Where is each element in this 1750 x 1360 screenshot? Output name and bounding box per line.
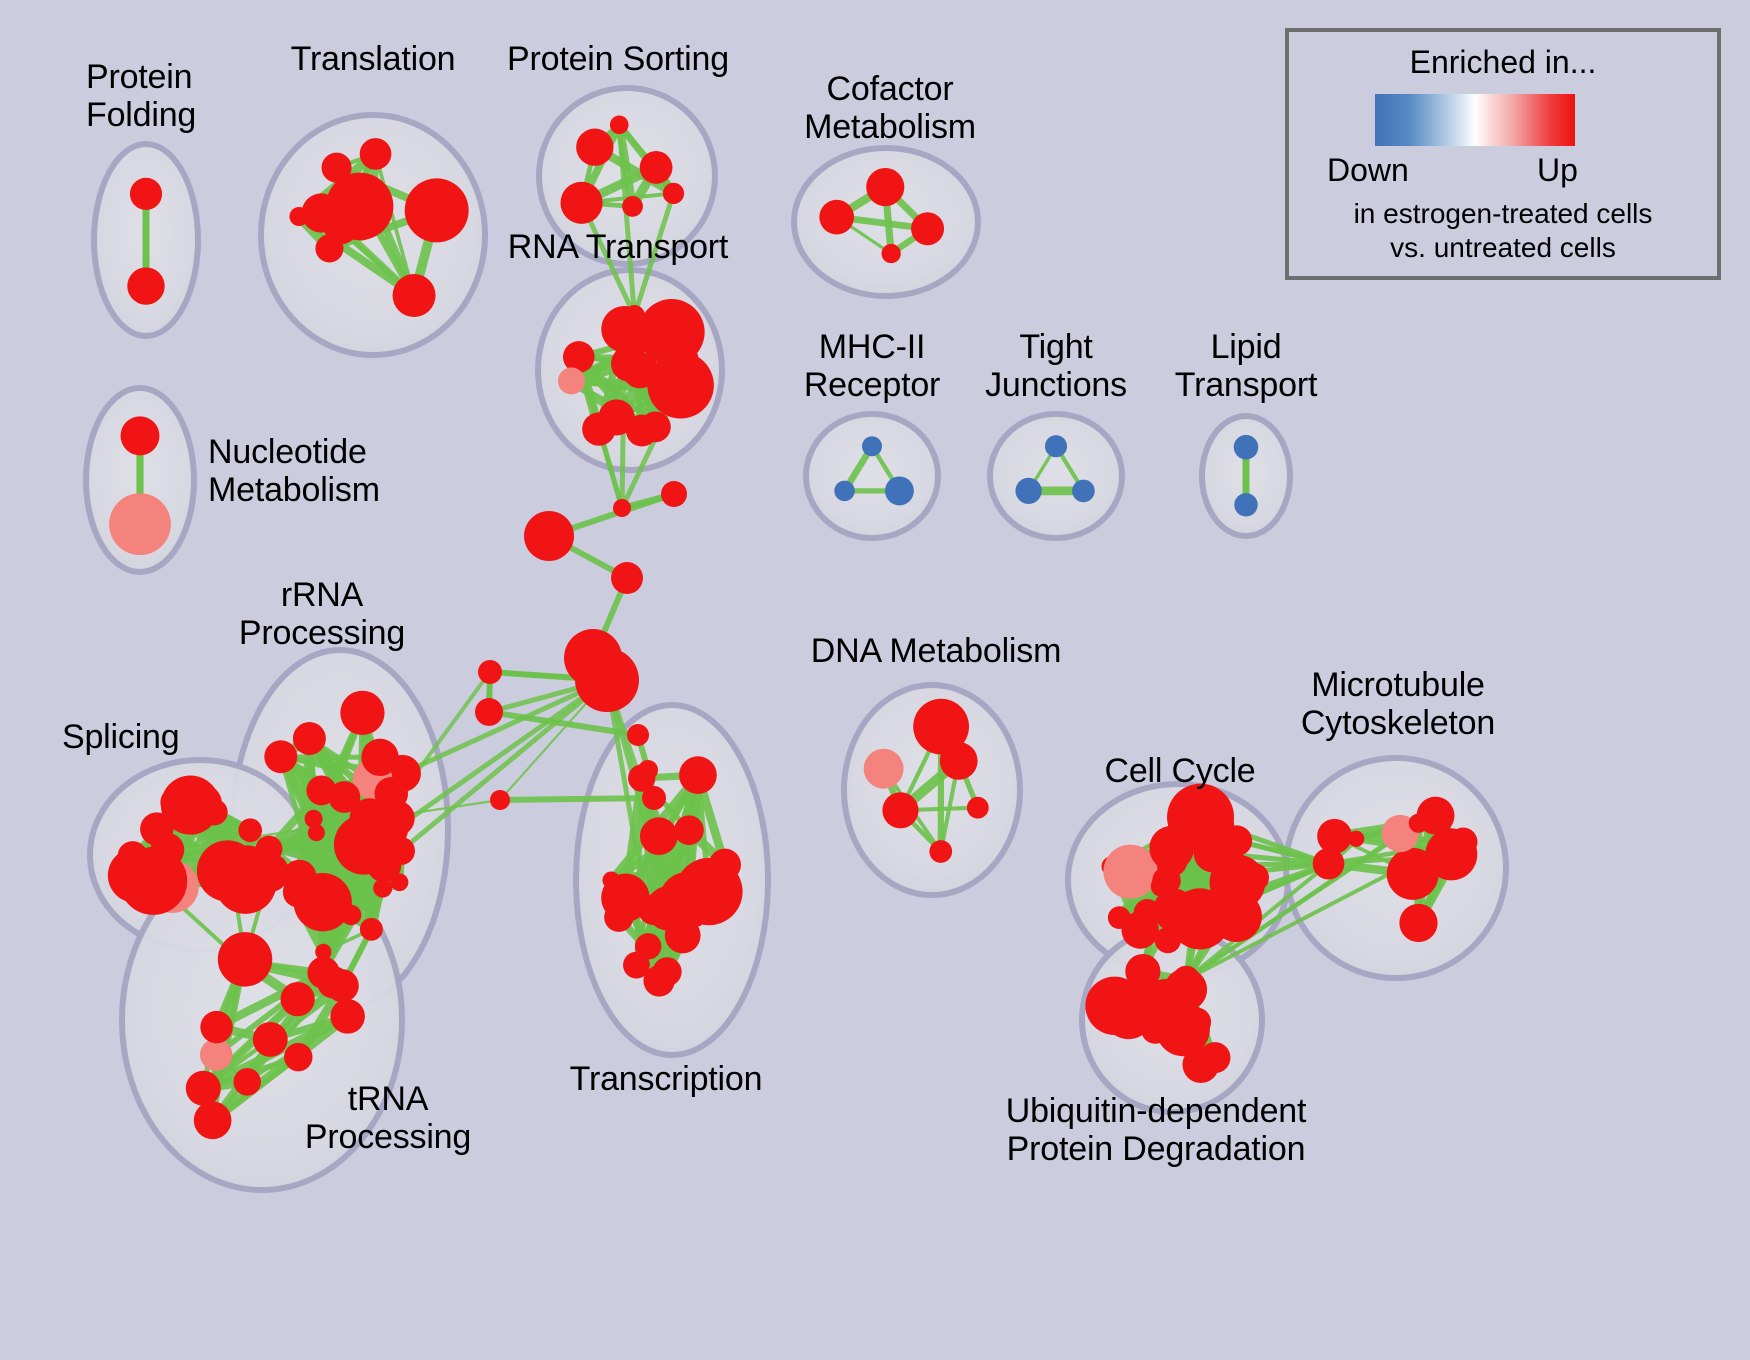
network-node-rrna-processing — [373, 879, 392, 898]
network-node-translation — [358, 184, 387, 213]
network-node-cofactor-metab — [866, 168, 904, 206]
network-node-dna-metabolism — [940, 742, 978, 780]
network-node-transcription — [602, 872, 619, 889]
network-node-trna-processing — [284, 1043, 312, 1071]
network-node-nucleotide-metab — [121, 416, 160, 455]
network-node-trna-processing — [253, 1022, 288, 1057]
network-node-rna-transport — [629, 341, 645, 357]
network-node-protein-sorting — [610, 116, 629, 135]
network-node-transcription — [674, 815, 704, 845]
legend-subtitle-line2: vs. untreated cells — [1289, 232, 1717, 264]
label-microtubule-cytoskeleton: Microtubule Cytoskeleton — [1301, 666, 1495, 742]
network-node-splicing — [140, 812, 173, 845]
network-edge — [500, 798, 654, 800]
network-node-bridge — [642, 786, 666, 810]
network-node-translation — [322, 153, 352, 183]
network-node-nucleotide-metab — [109, 493, 171, 555]
legend-subtitle-line1: in estrogen-treated cells — [1289, 198, 1717, 230]
network-node-transcription — [679, 756, 717, 794]
network-node-protein-sorting — [622, 196, 643, 217]
network-node-rrna-processing — [305, 810, 323, 828]
network-node-protein-sorting — [560, 182, 602, 224]
label-protein-folding: Protein Folding — [86, 58, 196, 134]
label-transcription: Transcription — [570, 1060, 763, 1098]
network-node-bridge — [611, 562, 643, 594]
network-node-ubiquitin-degradation — [1103, 987, 1155, 1039]
network-node-bridge — [478, 660, 502, 684]
network-node-trna-processing — [330, 999, 365, 1034]
network-node-dna-metabolism — [882, 792, 918, 828]
network-node-microtubule-cytoskeleton — [1409, 814, 1428, 833]
network-node-cell-cycle — [1121, 911, 1158, 948]
network-node-lipid-transport — [1234, 435, 1259, 460]
label-cell-cycle: Cell Cycle — [1104, 752, 1255, 790]
network-node-tight-junctions — [1015, 478, 1041, 504]
legend-down-label: Down — [1327, 152, 1409, 189]
color-scale-bar — [1375, 94, 1575, 146]
network-node-protein-sorting — [576, 129, 613, 166]
network-node-splicing — [160, 787, 191, 818]
network-node-splicing — [250, 853, 289, 892]
label-trna-processing: tRNA Processing — [305, 1080, 471, 1156]
network-node-trna-processing — [307, 956, 339, 988]
network-node-cofactor-metab — [911, 212, 944, 245]
network-node-splicing — [238, 818, 262, 842]
network-node-rrna-processing — [360, 918, 383, 941]
cluster-hull-mhc-ii-receptor — [806, 414, 938, 538]
network-node-cofactor-metab — [881, 244, 900, 263]
network-node-rrna-processing — [340, 691, 384, 735]
network-node-trna-processing — [200, 1038, 232, 1070]
network-node-rrna-processing — [294, 873, 352, 931]
network-node-dna-metabolism — [967, 797, 989, 819]
network-node-transcription — [640, 817, 678, 855]
network-node-rna-transport — [558, 367, 585, 394]
legend-box: Enriched in... Down Up in estrogen-treat… — [1285, 28, 1721, 280]
network-node-rrna-processing — [391, 873, 409, 891]
network-node-bridge — [475, 698, 503, 726]
network-node-protein-folding — [130, 178, 162, 210]
network-node-transcription — [675, 858, 742, 925]
network-node-dna-metabolism — [864, 749, 904, 789]
network-node-rrna-processing — [387, 837, 415, 865]
network-node-ubiquitin-degradation — [1156, 1002, 1210, 1056]
label-rna-transport: RNA Transport — [508, 228, 728, 266]
network-node-cell-cycle — [1152, 866, 1181, 895]
network-node-bridge — [638, 760, 658, 780]
label-lipid-transport: Lipid Transport — [1175, 328, 1317, 404]
label-mhc-ii-receptor: MHC-II Receptor — [804, 328, 940, 404]
cluster-hull-tight-junctions — [990, 414, 1122, 538]
network-node-microtubule-cytoskeleton — [1399, 904, 1437, 942]
network-node-cofactor-metab — [819, 200, 854, 235]
network-node-rrna-processing — [293, 722, 326, 755]
network-node-trna-processing — [218, 932, 272, 986]
network-node-mhc-ii-receptor — [885, 476, 914, 505]
network-node-microtubule-cytoskeleton — [1317, 819, 1352, 854]
network-node-bridge — [524, 511, 574, 561]
network-figure: Protein Folding Translation Protein Sort… — [0, 0, 1750, 1360]
network-node-lipid-transport — [1234, 493, 1257, 516]
network-node-microtubule-cytoskeleton — [1425, 828, 1477, 880]
network-node-tight-junctions — [1045, 435, 1067, 457]
network-node-protein-folding — [127, 267, 164, 304]
network-node-rna-transport — [624, 305, 645, 326]
legend-title: Enriched in... — [1289, 44, 1717, 81]
network-node-splicing — [201, 799, 228, 826]
network-node-protein-sorting — [640, 151, 673, 184]
network-node-cell-cycle — [1103, 845, 1157, 899]
network-node-splicing — [118, 841, 148, 871]
network-node-mhc-ii-receptor — [834, 481, 855, 502]
network-node-rna-transport — [647, 352, 714, 419]
network-node-trna-processing — [200, 1011, 232, 1043]
label-splicing: Splicing — [62, 718, 179, 756]
network-node-dna-metabolism — [929, 840, 952, 863]
network-node-translation — [405, 178, 469, 242]
network-node-rrna-processing — [264, 740, 297, 773]
label-nucleotide-metabolism: Nucleotide Metabolism — [208, 433, 380, 509]
network-node-translation — [360, 138, 392, 170]
network-node-ubiquitin-degradation — [1199, 1042, 1230, 1073]
network-node-bridge — [575, 648, 639, 712]
label-cofactor-metabolism: Cofactor Metabolism — [804, 70, 976, 146]
network-node-translation — [393, 274, 436, 317]
network-node-transcription — [653, 957, 682, 986]
network-node-cell-cycle — [1211, 891, 1262, 942]
label-dna-metabolism: DNA Metabolism — [811, 632, 1061, 670]
network-node-translation — [289, 207, 308, 226]
network-node-bridge — [627, 724, 649, 746]
network-node-bridge — [661, 481, 687, 507]
label-tight-junctions: Tight Junctions — [985, 328, 1127, 404]
network-node-ubiquitin-degradation — [1172, 966, 1200, 994]
network-node-tight-junctions — [1072, 480, 1095, 503]
network-node-trna-processing — [186, 1071, 221, 1106]
network-node-protein-sorting — [663, 183, 684, 204]
network-node-transcription — [665, 918, 701, 954]
network-node-trna-processing — [280, 982, 314, 1016]
legend-up-label: Up — [1537, 152, 1578, 189]
label-rrna-processing: rRNA Processing — [239, 576, 405, 652]
network-node-rrna-processing — [361, 739, 398, 776]
network-node-trna-processing — [194, 1101, 232, 1139]
network-node-rna-transport — [640, 411, 671, 442]
network-node-splicing — [197, 840, 258, 901]
network-node-bridge — [613, 499, 631, 517]
network-node-microtubule-cytoskeleton — [1397, 858, 1413, 874]
network-node-rna-transport — [622, 352, 658, 388]
network-node-mhc-ii-receptor — [862, 436, 882, 456]
network-node-transcription — [635, 933, 661, 959]
label-ubiquitin-degradation: Ubiquitin-dependent Protein Degradation — [1006, 1092, 1307, 1168]
label-translation: Translation — [291, 40, 456, 78]
label-protein-sorting: Protein Sorting — [507, 40, 729, 78]
network-node-trna-processing — [233, 1068, 261, 1096]
network-node-rrna-processing — [350, 798, 390, 838]
network-node-bridge — [490, 790, 510, 810]
network-node-cell-cycle — [1194, 834, 1233, 873]
